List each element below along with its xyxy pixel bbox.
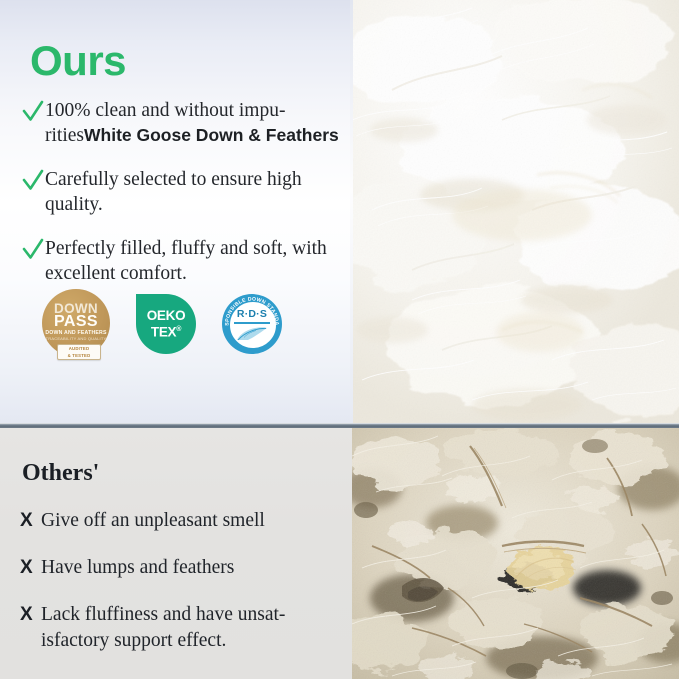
- ours-list-item: 100% clean and without impu-ritiesWhite …: [22, 98, 352, 148]
- oeko-tex-line1: OEKO: [147, 309, 186, 323]
- ours-item-text-emphasis: White Goose Down & Feathers: [84, 125, 339, 145]
- others-item-text: Give off an unpleasant smell: [41, 508, 265, 534]
- oeko-tex-line2: TEX®: [151, 323, 181, 340]
- ours-item-text: Perfectly filled, fluffy and soft, with …: [45, 236, 352, 286]
- oeko-tex-registered-mark: ®: [176, 326, 181, 333]
- downpass-ribbon-line1: AUDITED: [58, 345, 100, 352]
- downpass-ribbon-line2: & TESTED: [58, 352, 100, 359]
- ours-panel: Ours 100% clean and without impu-ritiesW…: [0, 0, 352, 423]
- downpass-line2: PASS: [40, 314, 112, 330]
- ours-heading: Ours: [30, 38, 126, 84]
- oeko-tex-label: OEKO TEX®: [136, 294, 196, 354]
- ours-item-text: Carefully selected to ensure high qualit…: [45, 167, 352, 217]
- comparison-infographic: Ours 100% clean and without impu-ritiesW…: [0, 0, 679, 679]
- downpass-subtitle2: TRACEABILITY AND QUALITY: [40, 336, 112, 341]
- rds-badge: RESPONSIBLE DOWN STANDARD CERTIFIED R·D·…: [222, 294, 284, 356]
- others-list-item: X Lack fluffiness and have unsat-isfacto…: [20, 602, 350, 654]
- others-item-text: Lack fluffiness and have unsat-isfactory…: [41, 602, 350, 654]
- x-icon: X: [20, 555, 41, 581]
- downpass-ribbon: AUDITED & TESTED: [57, 344, 101, 360]
- rds-feather-icon: [234, 325, 270, 343]
- ours-list-item: Perfectly filled, fluffy and soft, with …: [22, 236, 352, 286]
- clean-down-photo: [352, 0, 679, 423]
- rds-center-text: R·D·S: [229, 308, 275, 320]
- others-drawback-list: X Give off an unpleasant smell X Have lu…: [20, 508, 350, 675]
- x-icon: X: [20, 508, 41, 534]
- ours-benefit-list: 100% clean and without impu-ritiesWhite …: [22, 98, 352, 305]
- check-icon: [22, 168, 44, 194]
- vertical-divider-top: [350, 0, 353, 423]
- others-item-text: Have lumps and feathers: [41, 555, 234, 581]
- oeko-tex-line2-text: TEX: [151, 324, 176, 339]
- dirty-down-texture: [352, 428, 679, 679]
- downpass-badge: DOWN PASS DOWN AND FEATHERS TRACEABILITY…: [40, 289, 112, 361]
- check-icon: [22, 237, 44, 263]
- others-list-item: X Have lumps and feathers: [20, 555, 350, 581]
- ours-list-item: Carefully selected to ensure high qualit…: [22, 167, 352, 217]
- others-list-item: X Give off an unpleasant smell: [20, 508, 350, 534]
- rds-divider-line: [234, 322, 270, 324]
- clean-down-texture: [352, 0, 679, 423]
- dirty-down-photo: [352, 428, 679, 679]
- certification-badge-row: DOWN PASS DOWN AND FEATHERS TRACEABILITY…: [40, 289, 284, 361]
- ours-item-text: 100% clean and without impu-ritiesWhite …: [45, 98, 352, 148]
- x-icon: X: [20, 602, 41, 628]
- check-icon: [22, 99, 44, 125]
- others-heading: Others': [22, 459, 99, 487]
- oeko-tex-badge: OEKO TEX®: [136, 292, 198, 358]
- rds-ring-text-svg: RESPONSIBLE DOWN STANDARD CERTIFIED: [222, 294, 282, 354]
